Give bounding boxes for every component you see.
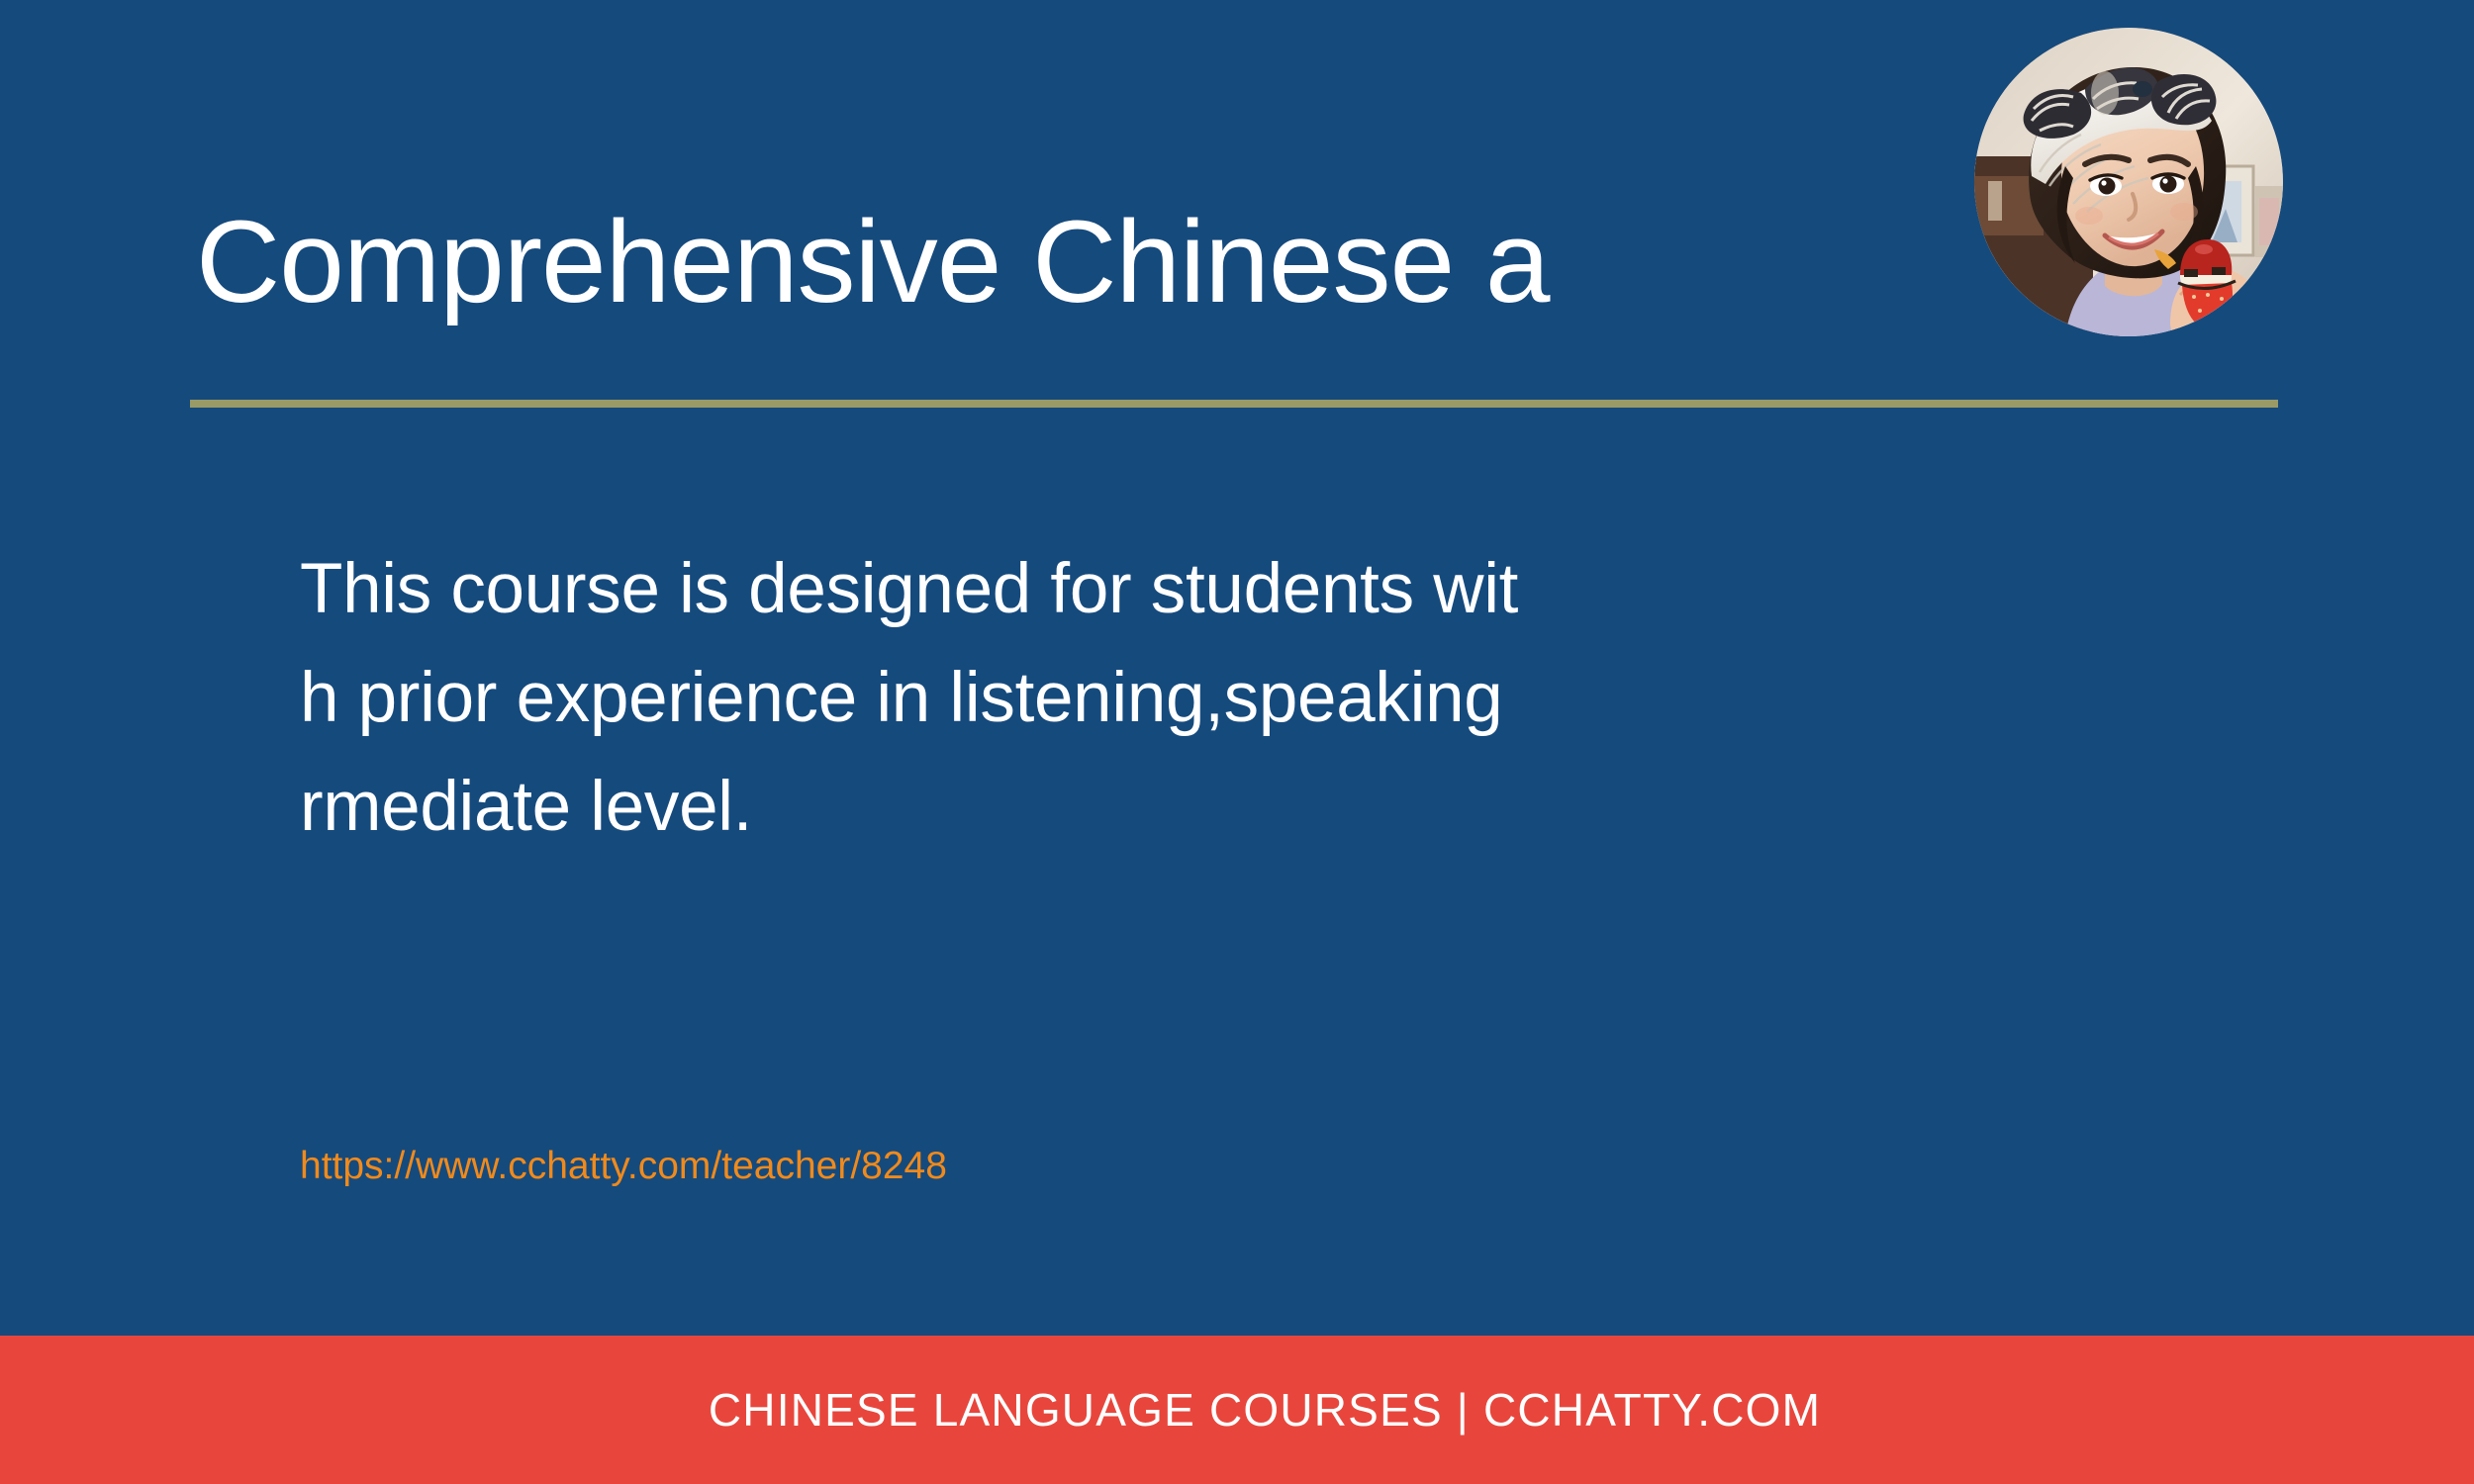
page-title: Comprehensive Chinese a (196, 199, 1967, 325)
course-description: This course is designed for students wit… (300, 535, 1982, 862)
title-divider (190, 400, 2278, 408)
teacher-profile-link[interactable]: https://www.cchatty.com/teacher/8248 (300, 1143, 947, 1190)
avatar (1974, 28, 2283, 336)
footer-text: CHINESE LANGUAGE COURSES | CCHATTY.COM (709, 1383, 1821, 1437)
presentation-slide: Comprehensive Chinese a (0, 0, 2474, 1484)
footer-banner: CHINESE LANGUAGE COURSES | CCHATTY.COM (0, 1336, 2474, 1484)
